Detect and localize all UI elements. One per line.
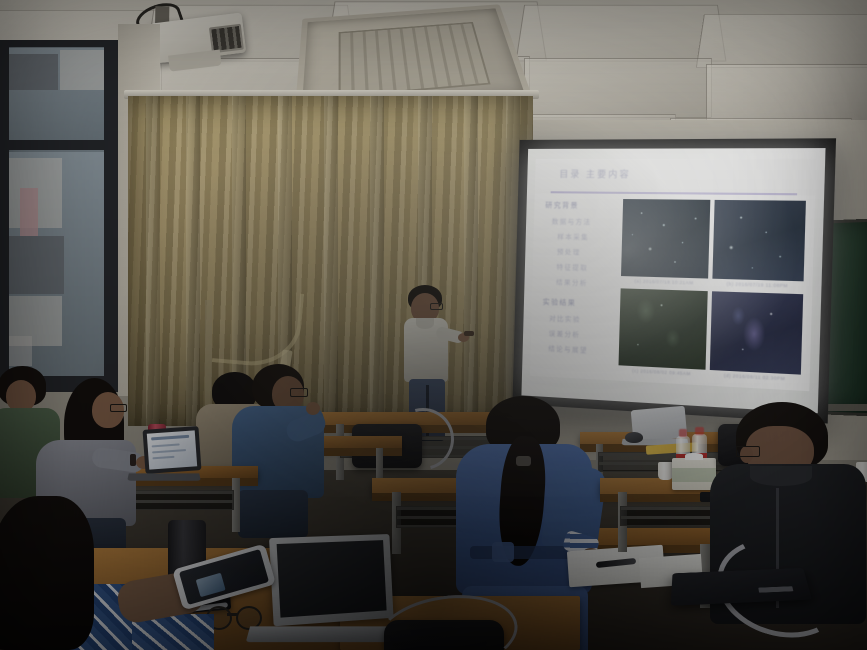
hair-clip <box>516 456 531 466</box>
laptop-closed-black[interactable] <box>671 568 812 606</box>
panel-bottom-right-image <box>710 291 803 374</box>
outline-item: 研究背景 <box>545 200 615 211</box>
jacket-belt <box>470 546 576 559</box>
panel-caption: (a) 2016/07/18 10:21AM <box>621 276 708 288</box>
shirt-collar <box>750 466 812 486</box>
laptop-left-open[interactable] <box>128 428 200 480</box>
outline-item: 实验结果 <box>543 297 613 310</box>
projection-surface: 目录 主要内容 研究背景 数据与方法 样本采集 预处理 特征提取 结果分析 实验… <box>521 148 825 413</box>
outline-item: 结论与展望 <box>541 342 610 355</box>
presentation-clicker[interactable] <box>464 331 474 336</box>
panel-top-right-image <box>712 200 805 281</box>
slide-image-panel: (d) 2016/08/11 02:30PM <box>709 291 802 384</box>
hand <box>306 402 320 415</box>
outline-item: 误差分析 <box>542 327 611 340</box>
outline-item: 特征提取 <box>544 261 614 273</box>
glasses-icon <box>290 388 308 397</box>
panel-bottom-left-image <box>618 288 707 369</box>
belt-buckle <box>492 542 514 562</box>
computer-mouse[interactable] <box>625 432 643 443</box>
paper-cup[interactable] <box>658 462 673 480</box>
outline-item: 样本采集 <box>544 230 614 241</box>
projector-lens <box>209 24 244 54</box>
slide-image-panel: (a) 2016/07/18 10:21AM <box>621 199 710 288</box>
trousers <box>238 490 308 538</box>
outline-item: 预处理 <box>544 246 614 258</box>
slide-title: 目录 主要内容 <box>559 168 631 182</box>
presentation-slide: 目录 主要内容 研究背景 数据与方法 样本采集 预处理 特征提取 结果分析 实验… <box>530 159 815 392</box>
laptop-foreground-silver[interactable] <box>248 536 396 648</box>
panel-caption: (b) 2016/07/19 11:08PM <box>712 278 803 290</box>
exterior-window <box>0 40 126 392</box>
outline-item: 数据与方法 <box>545 215 615 226</box>
glasses-icon <box>110 404 127 412</box>
glasses-icon <box>736 446 760 457</box>
shirt-collar <box>416 318 434 329</box>
slide-image-panel: (b) 2016/07/19 11:08PM <box>712 200 806 291</box>
slide-image-panel: (c) 2016/08/02 09:45AM <box>618 288 707 379</box>
long-hair <box>0 496 94 650</box>
student-denim-shirt <box>228 364 338 534</box>
slide-outline-list: 研究背景 数据与方法 样本采集 预处理 特征提取 结果分析 实验结果 对比实验 … <box>541 200 615 374</box>
glasses-icon <box>430 303 443 310</box>
slide-image-grid: (a) 2016/07/18 10:21AM (b) 2016/07/19 11… <box>618 199 805 384</box>
classroom-photo: 目录 主要内容 研究背景 数据与方法 样本采集 预处理 特征提取 结果分析 实验… <box>0 0 867 650</box>
panel-top-left-image <box>621 199 710 279</box>
projection-screen: 目录 主要内容 研究背景 数据与方法 样本采集 预处理 特征提取 结果分析 实验… <box>512 138 836 423</box>
outline-item: 对比实验 <box>542 312 612 325</box>
outline-item: 结果分析 <box>543 276 613 288</box>
